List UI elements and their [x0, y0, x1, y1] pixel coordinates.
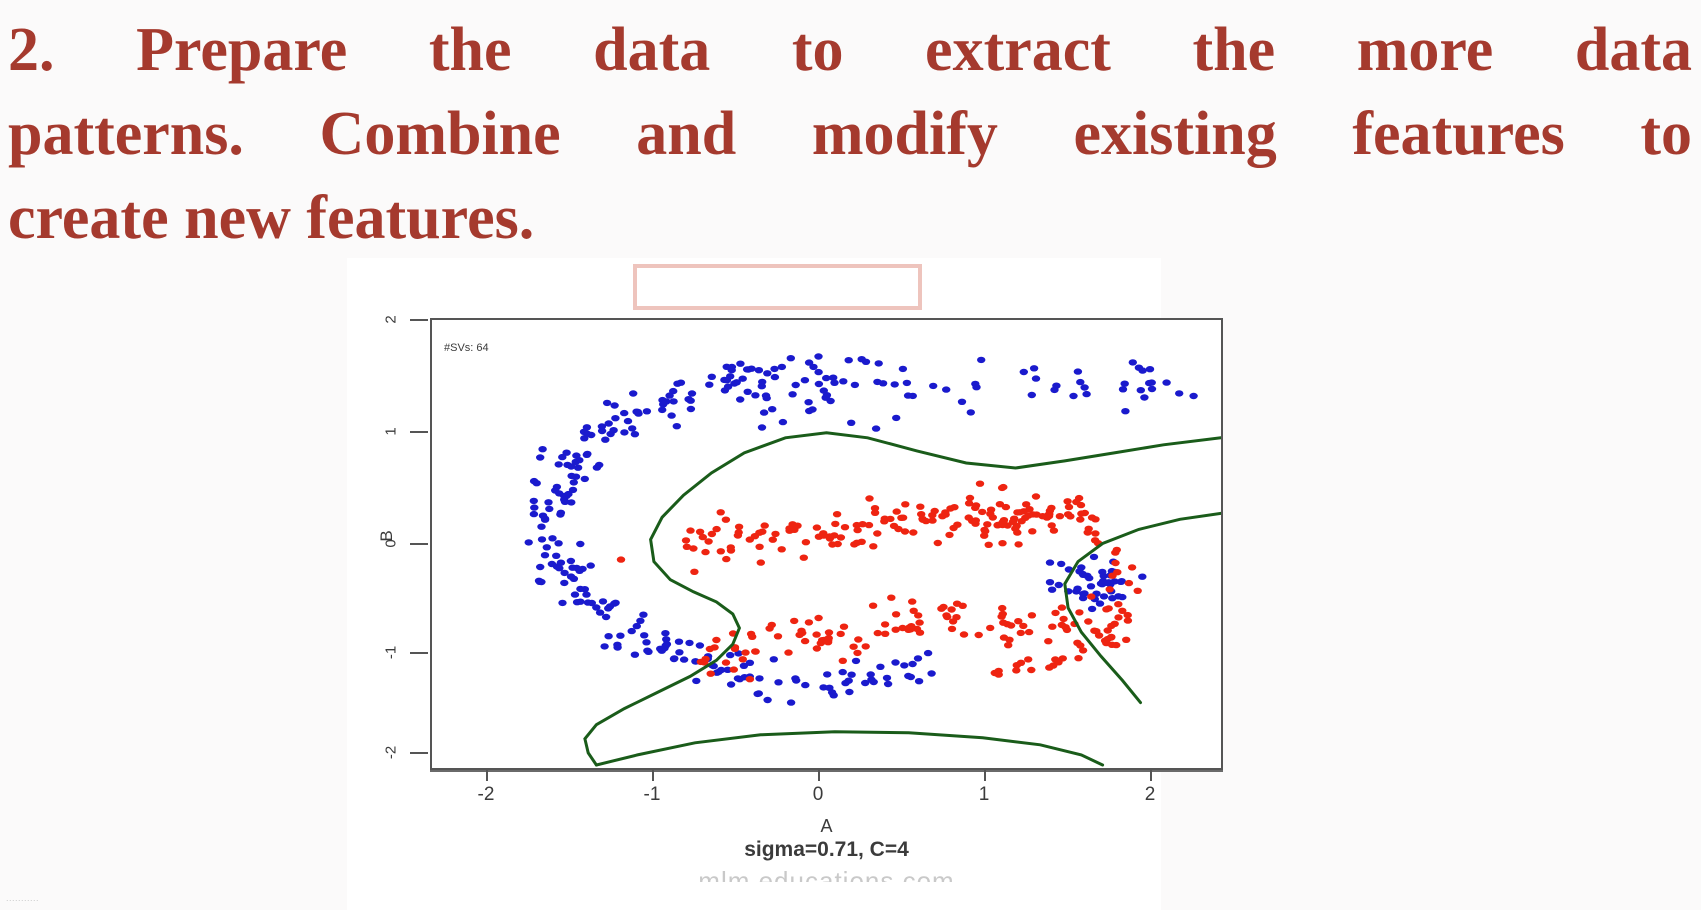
x-tick-1: [984, 770, 986, 781]
x-tick-label-1: 1: [964, 784, 1004, 806]
svm-scatter-plot: B 2 1 0 -1 -2 #SVs: 64 -2 -1 0 1 2 A sig…: [380, 300, 1160, 900]
y-tick-neg1: [410, 652, 428, 654]
plot-panel: #SVs: 64: [430, 318, 1223, 770]
x-tick-neg2: [486, 770, 488, 781]
scatter-canvas: [432, 320, 1221, 768]
slide-canvas: 2. Prepare the data to extract the more …: [0, 0, 1701, 910]
y-tick-2: [410, 319, 428, 321]
x-tick-2: [1150, 770, 1152, 781]
support-vector-annotation: #SVs: 64: [444, 342, 489, 354]
y-tick-label-2: 2: [383, 307, 400, 333]
plot-subtitle: sigma=0.71, C=4: [380, 838, 1273, 862]
title-line-3: create new features.: [8, 176, 1692, 260]
title-line-1: 2. Prepare the data to extract the more …: [8, 8, 1692, 92]
y-tick-label-1: 1: [383, 419, 400, 445]
y-tick-1: [410, 431, 428, 433]
x-axis-title: A: [380, 816, 1273, 837]
y-tick-label-neg2: -2: [383, 740, 400, 766]
x-axis-line: [430, 770, 1223, 772]
x-tick-neg1: [652, 770, 654, 781]
x-tick-0: [818, 770, 820, 781]
decision-boundary-lower: [596, 732, 1102, 765]
x-tick-label-neg2: -2: [466, 784, 506, 806]
red-class-points: [617, 481, 1142, 683]
page-title: 2. Prepare the data to extract the more …: [8, 8, 1692, 260]
title-line-2: patterns. Combine and modify existing fe…: [8, 92, 1692, 176]
plot-watermark: mlm educations.com: [380, 866, 1273, 882]
x-tick-label-2: 2: [1130, 784, 1170, 806]
y-tick-0: [410, 543, 428, 545]
x-tick-label-0: 0: [798, 784, 838, 806]
y-tick-label-0: 0: [383, 531, 400, 557]
y-tick-neg2: [410, 752, 428, 754]
x-tick-label-neg1: -1: [632, 784, 672, 806]
corner-note: ...........: [6, 893, 39, 903]
y-tick-label-neg1: -1: [383, 640, 400, 666]
